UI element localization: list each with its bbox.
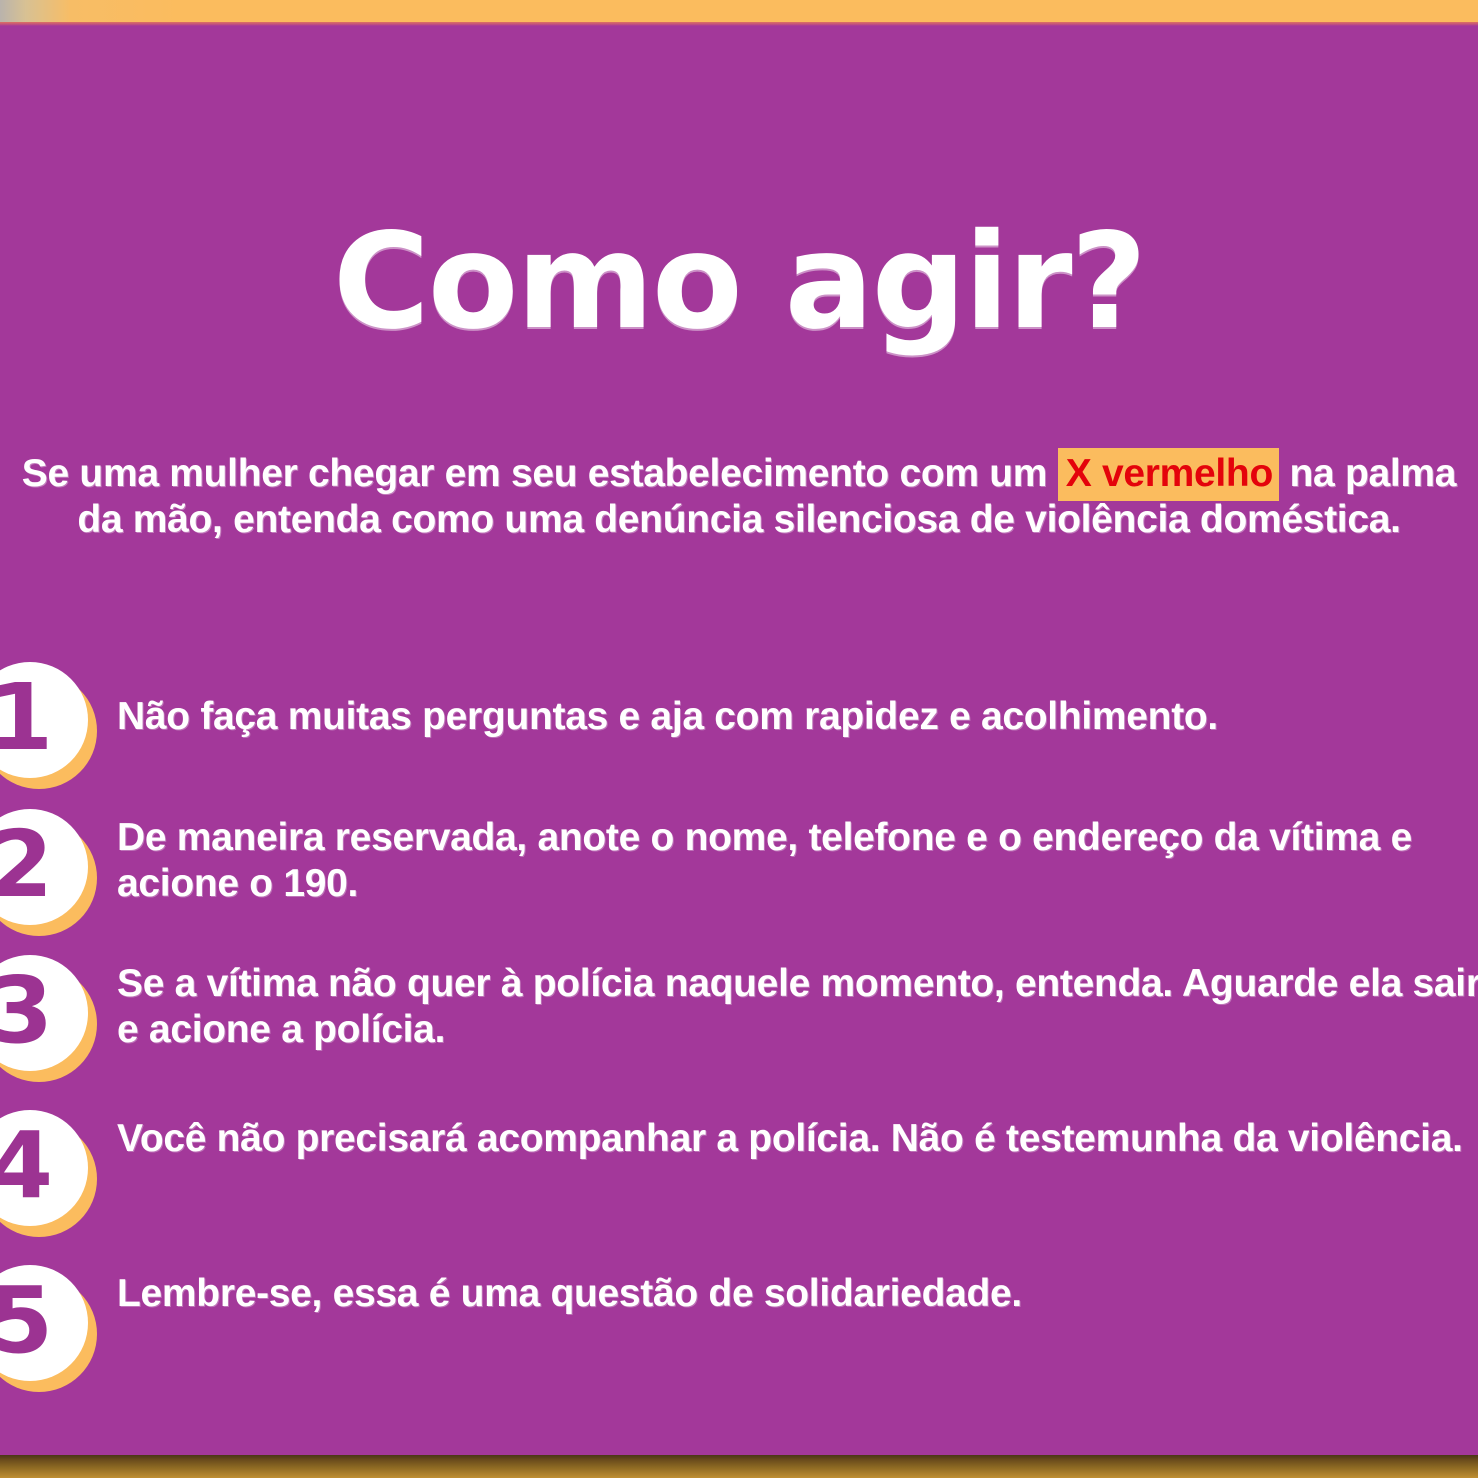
intro-text-part-1: Se uma mulher chegar em seu estabelecime…	[22, 452, 1058, 495]
top-band-edge-line	[0, 22, 1478, 26]
step-number-badge: 1	[0, 662, 88, 778]
step-number-badge: 2	[0, 809, 88, 925]
step-text: De maneira reservada, anote o nome, tele…	[117, 815, 1478, 907]
step-text: Lembre-se, essa é uma questão de solidar…	[117, 1271, 1478, 1317]
step-text: Se a vítima não quer à polícia naquele m…	[117, 961, 1478, 1053]
page-title: Como agir?	[0, 216, 1478, 348]
poster-canvas: Como agir? Se uma mulher chegar em seu e…	[0, 0, 1478, 1478]
step-number-badge: 5	[0, 1265, 88, 1381]
step-number-label: 3	[0, 965, 53, 1057]
step-number-label: 1	[0, 672, 53, 764]
step-text: Não faça muitas perguntas e aja com rapi…	[117, 694, 1478, 740]
step-text: Você não precisará acompanhar a polícia.…	[117, 1116, 1478, 1162]
highlight-x-vermelho: X vermelho	[1058, 448, 1279, 501]
step-number-label: 5	[0, 1275, 53, 1367]
intro-paragraph: Se uma mulher chegar em seu estabelecime…	[16, 451, 1462, 542]
step-number-badge: 4	[0, 1110, 88, 1226]
bottom-gold-band	[0, 1455, 1478, 1478]
step-number-badge: 3	[0, 955, 88, 1071]
step-number-label: 2	[0, 819, 53, 911]
top-orange-band	[0, 0, 1478, 22]
step-number-label: 4	[0, 1120, 53, 1212]
